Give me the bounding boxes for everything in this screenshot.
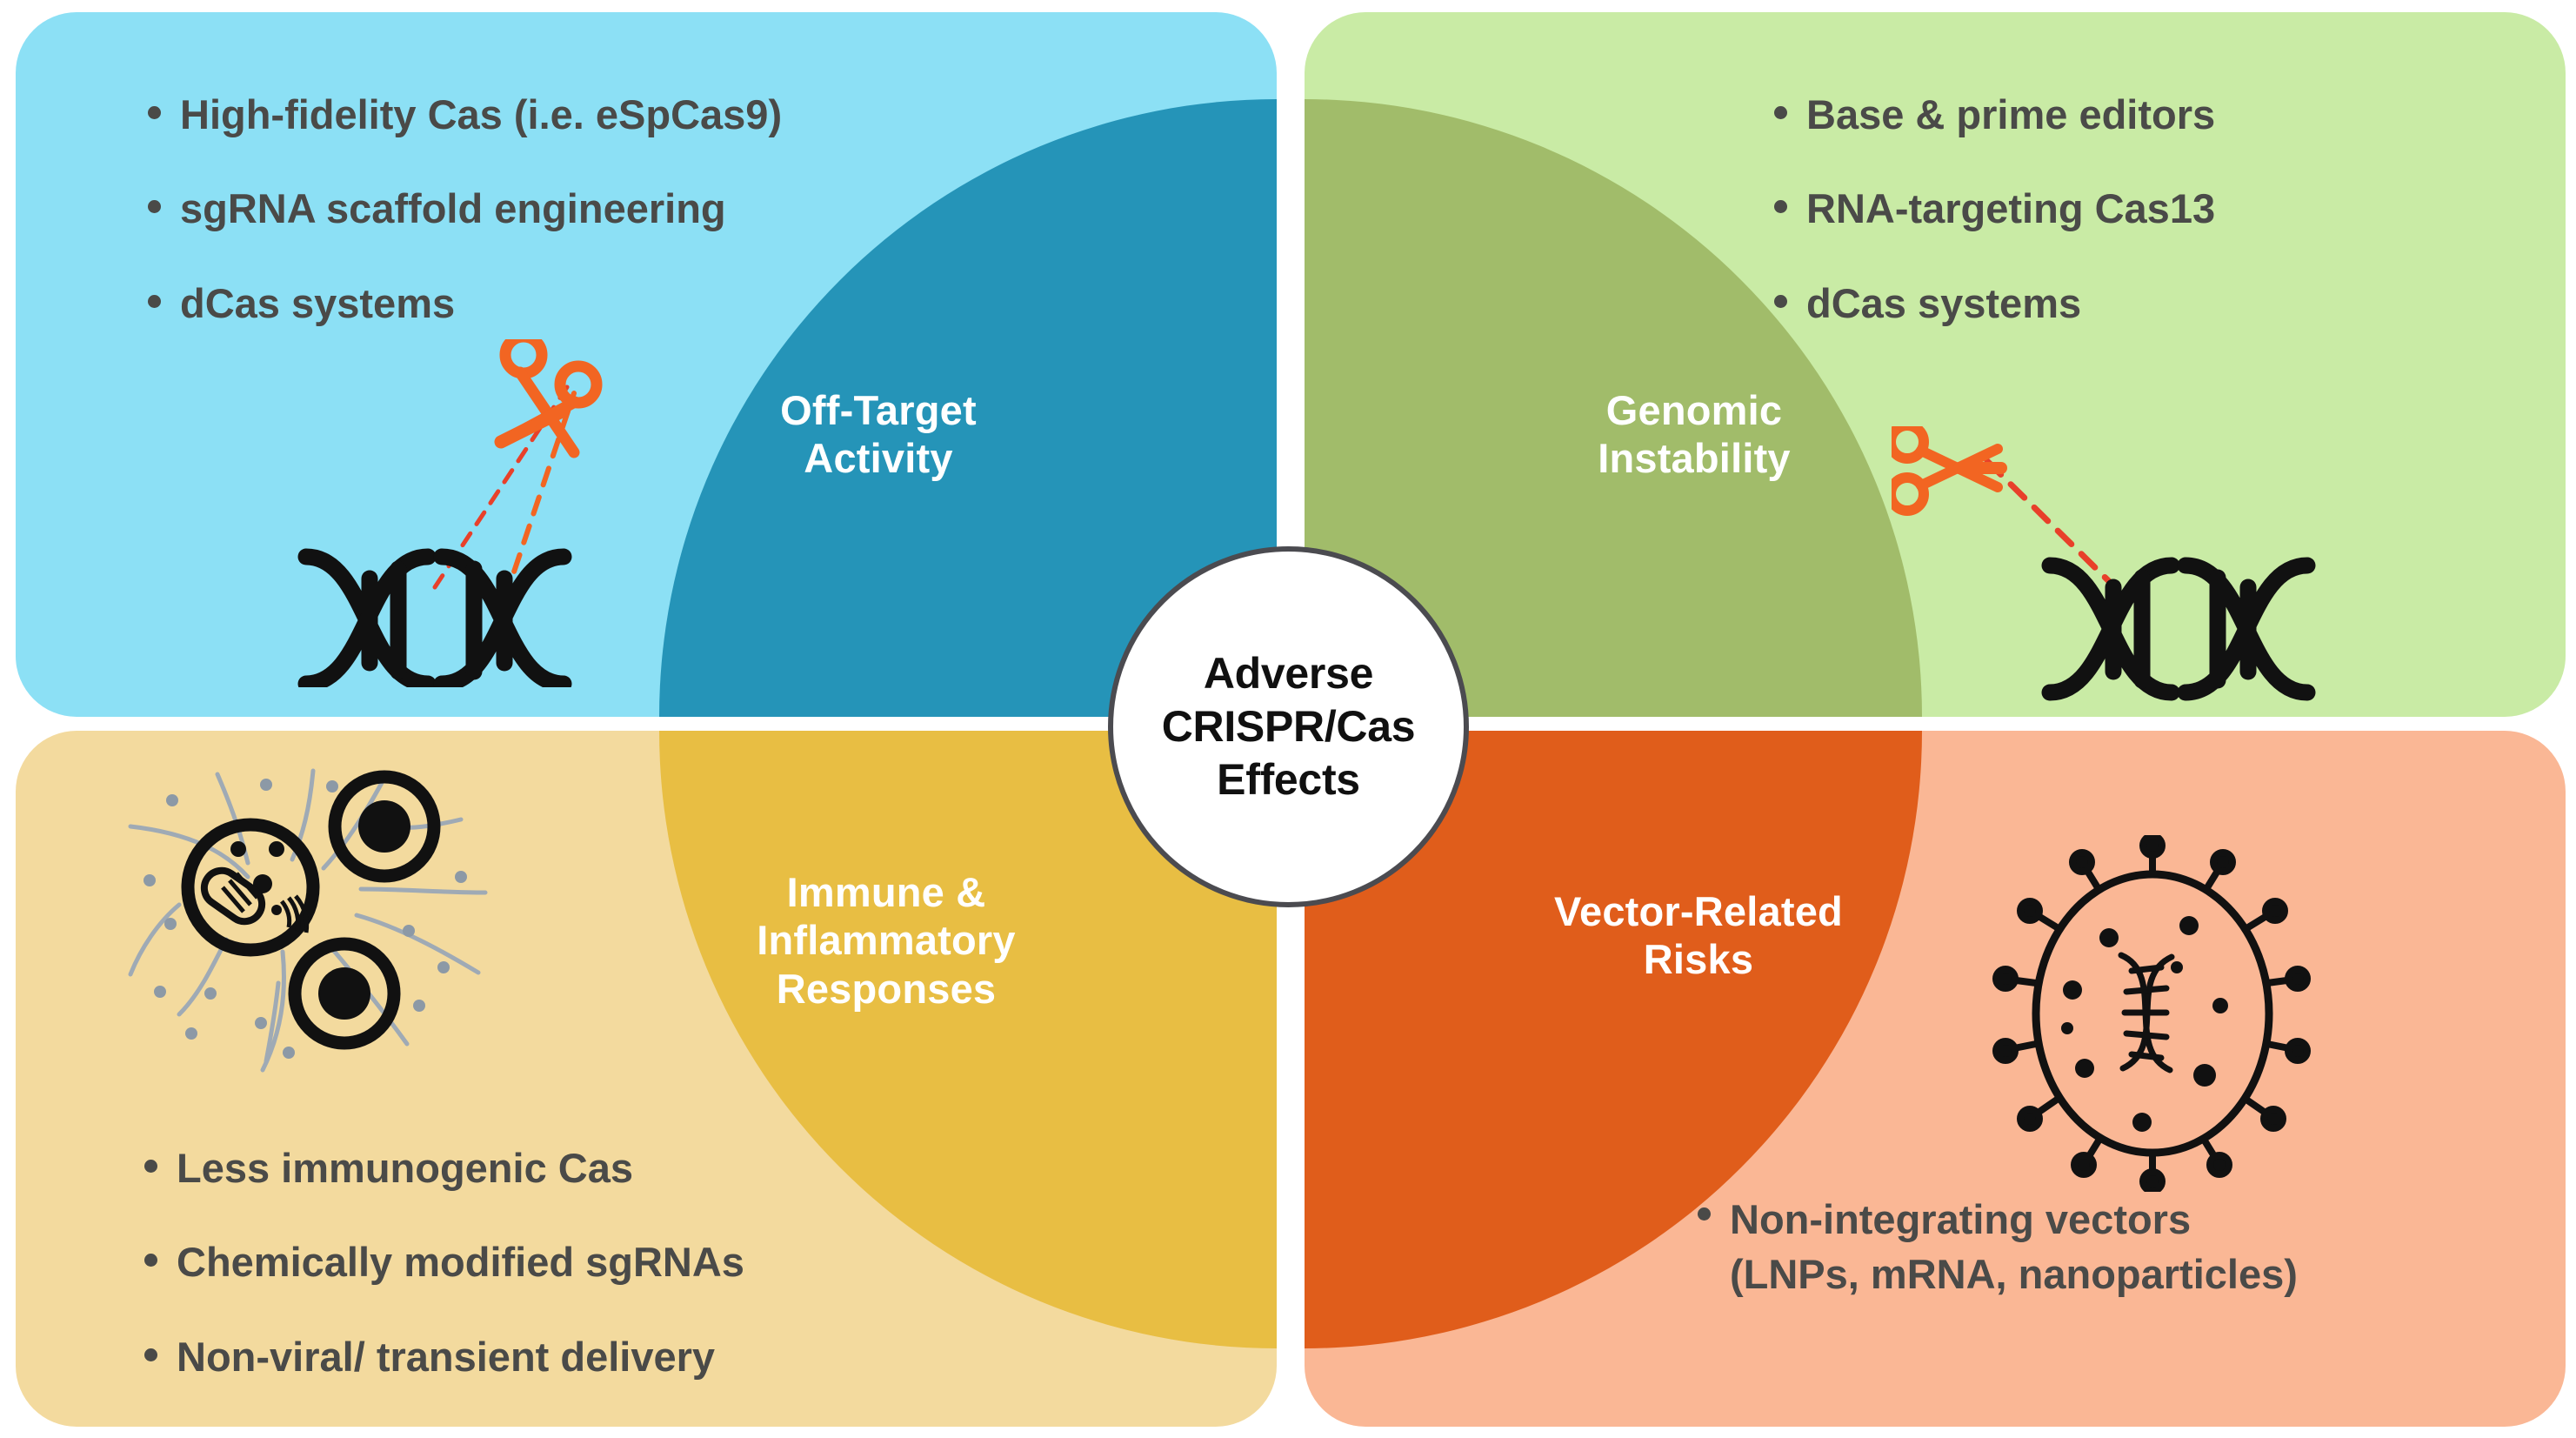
list-item: dCas systems xyxy=(148,279,782,328)
list-item: Less immunogenic Cas xyxy=(144,1144,744,1193)
list-item: sgRNA scaffold engineering xyxy=(148,184,782,233)
page-title: Adverse CRISPR/Cas Effects xyxy=(1162,647,1416,806)
bullet-dot-icon xyxy=(1774,106,1787,119)
bullet-list-immune-and-inflammatory-responses: Less immunogenic Cas Chemically modified… xyxy=(144,1144,744,1427)
list-item: Chemically modified sgRNAs xyxy=(144,1238,744,1287)
artwork-vector-related-risks xyxy=(1987,835,2318,1192)
list-item: dCas systems xyxy=(1774,279,2215,328)
artwork-immune-and-inflammatory-responses xyxy=(96,766,531,1114)
bullet-dot-icon xyxy=(144,1348,157,1361)
bullet-dot-icon xyxy=(144,1254,157,1267)
bullet-dot-icon xyxy=(148,295,161,308)
artwork-off-target-activity xyxy=(287,339,757,687)
list-item: Non-integrating vectors (LNPs, mRNA, nan… xyxy=(1698,1192,2298,1302)
bullet-list-off-target-activity: High-fidelity Cas (i.e. eSpCas9) sgRNA s… xyxy=(148,90,782,373)
list-item: High-fidelity Cas (i.e. eSpCas9) xyxy=(148,90,782,139)
dna-helix-icon xyxy=(2121,955,2172,1070)
crispr-adverse-effects-diagram: Off-Target Activity High-fidelity Cas (i… xyxy=(0,0,2576,1438)
bullet-dot-icon xyxy=(1698,1207,1711,1221)
bullet-list-vector-related-risks: Non-integrating vectors (LNPs, mRNA, nan… xyxy=(1698,1192,2298,1318)
viral-vector-icon xyxy=(1996,836,2307,1191)
sector-label-immune-and-inflammatory-responses: Immune & Inflammatory Responses xyxy=(682,868,1091,1013)
sector-label-off-target-activity: Off-Target Activity xyxy=(704,386,1052,483)
bullet-dot-icon xyxy=(144,1160,157,1173)
bullet-dot-icon xyxy=(148,200,161,213)
sector-label-vector-related-risks: Vector-Related Risks xyxy=(1512,887,1885,984)
bullet-dot-icon xyxy=(1774,200,1787,213)
immune-cell-icon xyxy=(188,825,313,950)
quadrant-vector-related-risks: Vector-Related Risks Non-integrating vec… xyxy=(1305,731,2566,1427)
list-item: Non-viral/ transient delivery xyxy=(144,1333,744,1381)
list-item: Base & prime editors xyxy=(1774,90,2215,139)
bullet-dot-icon xyxy=(1774,295,1787,308)
scissors-icon xyxy=(1892,426,2001,511)
sector-label-genomic-instability: Genomic Instability xyxy=(1520,386,1868,483)
center-hub: Adverse CRISPR/Cas Effects xyxy=(1108,546,1469,907)
dna-helix-icon xyxy=(2050,565,2307,692)
dna-helix-icon xyxy=(306,557,564,684)
immune-cell-icon xyxy=(295,944,394,1043)
artwork-genomic-instability xyxy=(1892,426,2431,713)
bullet-list-genomic-instability: Base & prime editors RNA-targeting Cas13… xyxy=(1774,90,2215,373)
scissors-icon xyxy=(501,339,597,452)
bullet-dot-icon xyxy=(148,106,161,119)
list-item: RNA-targeting Cas13 xyxy=(1774,184,2215,233)
